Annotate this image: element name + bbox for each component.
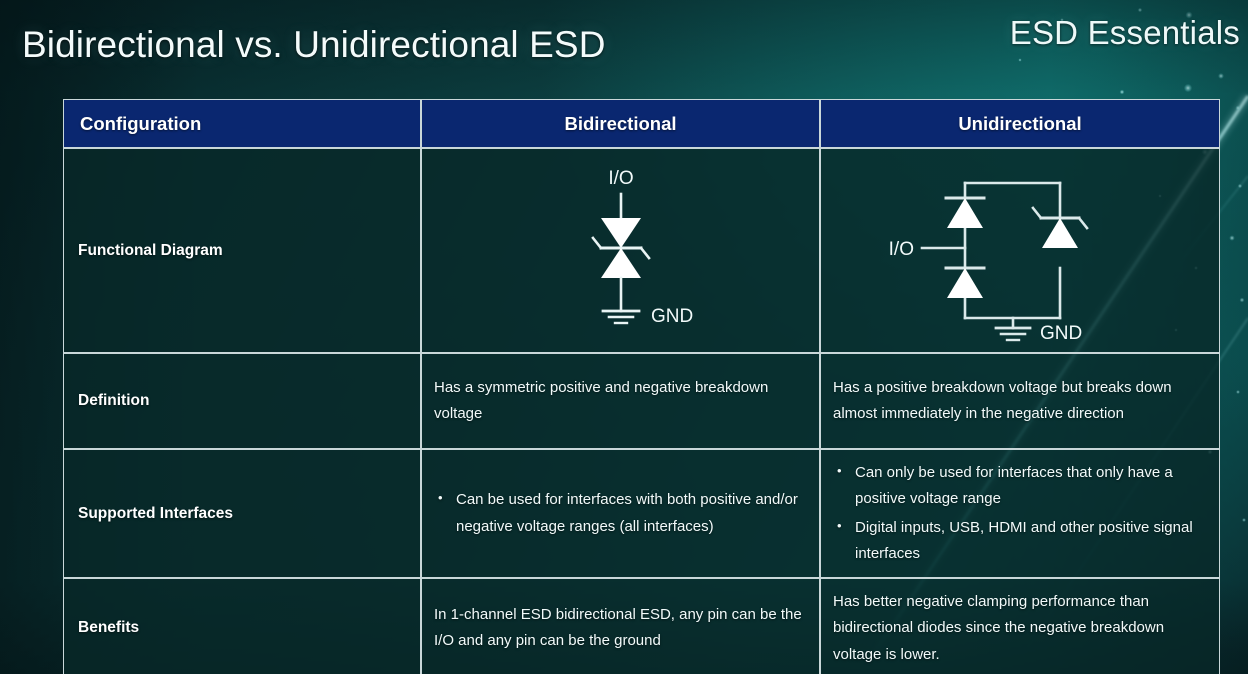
column-header-bidirectional: Bidirectional (421, 99, 820, 148)
cell-benefits-bidirectional: In 1-channel ESD bidirectional ESD, any … (421, 578, 820, 674)
cell-definition-bidirectional: Has a symmetric positive and negative br… (421, 353, 820, 449)
list-item: Can only be used for interfaces that onl… (833, 460, 1205, 513)
bidirectional-gnd-label: GND (651, 306, 693, 327)
column-header-unidirectional: Unidirectional (820, 99, 1220, 148)
unidirectional-io-label: I/O (889, 239, 914, 260)
bidirectional-io-label: I/O (608, 168, 633, 189)
cell-supported-bidirectional: Can be used for interfaces with both pos… (421, 449, 820, 578)
table-header-row: Configuration Bidirectional Unidirection… (63, 99, 1220, 148)
row-label-supported-interfaces: Supported Interfaces (63, 449, 421, 578)
series-subtitle: ESD Essentials (1010, 14, 1240, 52)
unidirectional-diode-diagram: I/O GND (870, 156, 1170, 346)
list-item: Can be used for interfaces with both pos… (434, 487, 805, 540)
table-header: Configuration Bidirectional Unidirection… (63, 99, 1220, 148)
column-header-configuration: Configuration (63, 99, 421, 148)
list-item: Digital inputs, USB, HDMI and other posi… (833, 515, 1205, 568)
table-row: Benefits In 1-channel ESD bidirectional … (63, 578, 1220, 674)
row-label-definition: Definition (63, 353, 421, 449)
row-label-functional-diagram: Functional Diagram (63, 148, 421, 353)
cell-unidirectional-diagram: I/O GND (820, 148, 1220, 353)
cell-benefits-unidirectional: Has better negative clamping performance… (820, 578, 1220, 674)
cell-supported-unidirectional: Can only be used for interfaces that onl… (820, 449, 1220, 578)
bullet-list-unidirectional: Can only be used for interfaces that onl… (833, 460, 1205, 567)
cell-bidirectional-diagram: I/O GND (421, 148, 820, 353)
bidirectional-tvs-diode-diagram: I/O GND (496, 156, 746, 346)
unidirectional-gnd-label: GND (1040, 323, 1082, 344)
table-row: Definition Has a symmetric positive and … (63, 353, 1220, 449)
table-row: Supported Interfaces Can be used for int… (63, 449, 1220, 578)
cell-definition-unidirectional: Has a positive breakdown voltage but bre… (820, 353, 1220, 449)
page-title: Bidirectional vs. Unidirectional ESD (22, 24, 606, 66)
table-body: Functional Diagram (63, 148, 1220, 674)
table-row: Functional Diagram (63, 148, 1220, 353)
bullet-list-bidirectional: Can be used for interfaces with both pos… (434, 487, 805, 540)
row-label-benefits: Benefits (63, 578, 421, 674)
comparison-table: Configuration Bidirectional Unidirection… (63, 99, 1220, 674)
